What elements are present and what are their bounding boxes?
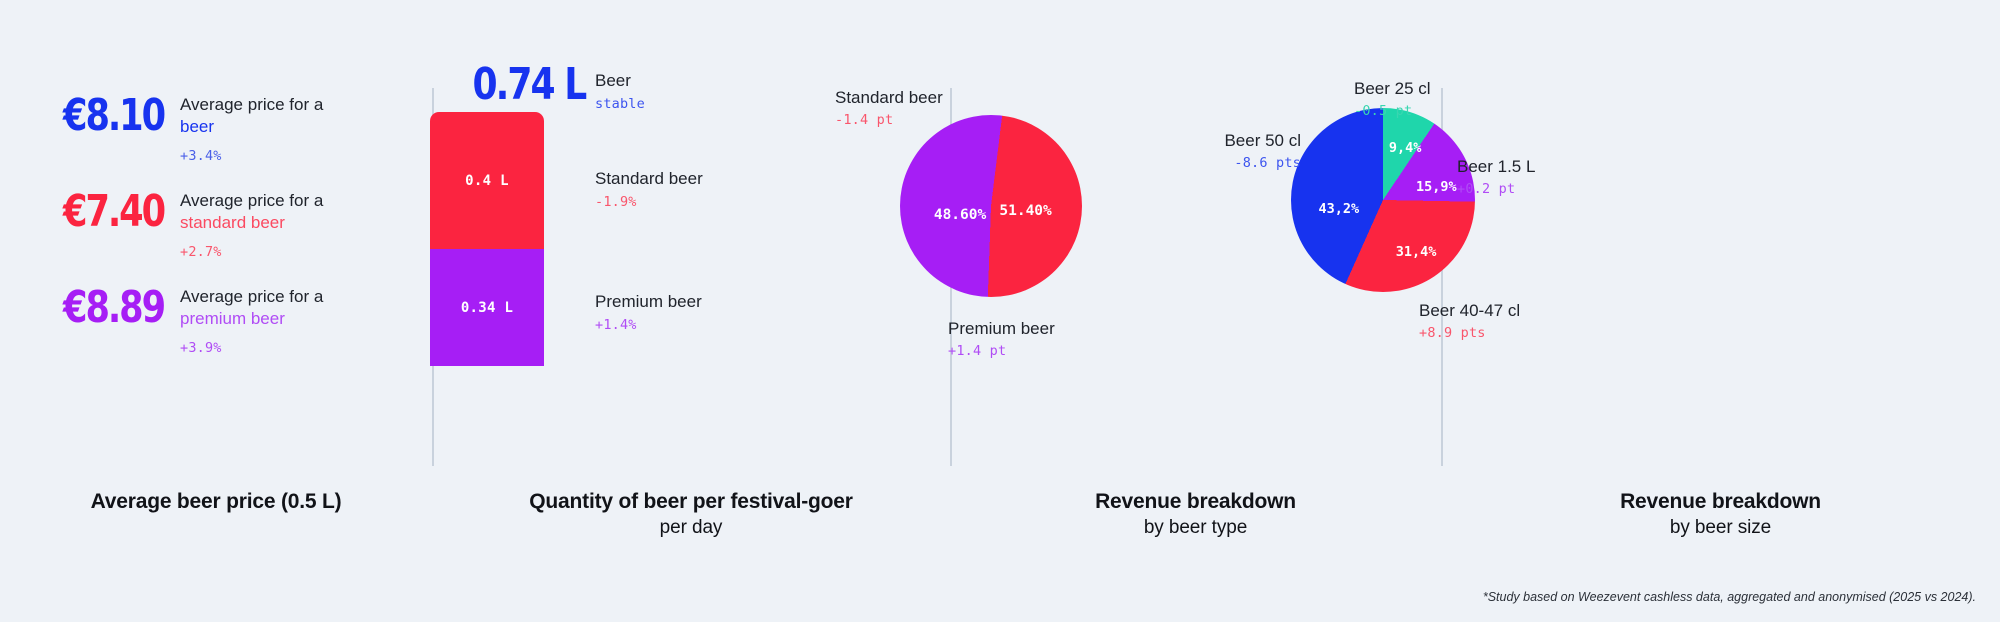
callout-delta-beer-15l: +0.2 pt xyxy=(1457,181,1535,197)
bar-label-standard-beer: 0.4 L xyxy=(465,173,509,189)
caption-main-quantity: Quantity of beer per festival-goer xyxy=(432,490,950,514)
callout-name-standard-beer: Standard beer xyxy=(835,87,943,109)
bar-segment-standard-beer: 0.4 L xyxy=(430,112,544,249)
legend-delta-beer-total: stable xyxy=(595,96,645,112)
price-desc-line1-beer: Average price for a xyxy=(180,94,323,116)
callout-delta-premium-beer: +1.4 pt xyxy=(948,343,1055,359)
callout-beer-40-47cl: Beer 40-47 cl +8.9 pts xyxy=(1419,300,1520,341)
callout-standard-beer: Standard beer -1.4 pt xyxy=(835,87,943,128)
price-delta-premium-beer: +3.9% xyxy=(180,340,323,356)
callout-delta-beer-50cl: -8.6 pts xyxy=(1151,155,1301,171)
caption-average-beer-price: Average beer price (0.5 L) xyxy=(0,490,432,514)
legend-name-beer-total: Beer xyxy=(595,70,645,92)
legend-standard-beer: Standard beer -1.9% xyxy=(595,168,703,210)
callout-name-beer-40-47cl: Beer 40-47 cl xyxy=(1419,300,1520,322)
price-delta-beer: +3.4% xyxy=(180,148,323,164)
bar-label-premium-beer: 0.34 L xyxy=(461,300,513,316)
panel-revenue-by-beer-size: 9,4% 15,9% 31,4% 43,2% Beer 25 cl -0.5 p… xyxy=(1441,0,2000,622)
legend-delta-standard-beer: -1.9% xyxy=(595,194,703,210)
price-desc-line2-beer: beer xyxy=(180,116,323,138)
study-footnote: *Study based on Weezevent cashless data,… xyxy=(1483,590,1976,604)
caption-sub-quantity: per day xyxy=(432,517,950,539)
callout-name-beer-15l: Beer 1.5 L xyxy=(1457,156,1535,178)
price-desc-premium-beer: Average price for a premium beer +3.9% xyxy=(180,286,323,356)
legend-name-standard-beer: Standard beer xyxy=(595,168,703,190)
pie-label-standard-beer: 48.60% xyxy=(934,207,986,223)
pie-label-beer-50cl: 43,2% xyxy=(1319,201,1360,217)
caption-revenue-type: Revenue breakdown by beer type xyxy=(950,490,1441,539)
price-desc-line1-premium-beer: Average price for a xyxy=(180,286,323,308)
caption-main-prices: Average beer price (0.5 L) xyxy=(0,490,432,514)
callout-name-premium-beer: Premium beer xyxy=(948,318,1055,340)
price-amount-standard-beer: €7.40 xyxy=(50,190,164,234)
pie-chart-revenue-by-type: 48.60% 51.40% xyxy=(900,115,1082,297)
legend-beer-total: Beer stable xyxy=(595,70,645,112)
price-desc-standard-beer: Average price for a standard beer +2.7% xyxy=(180,190,323,260)
callout-delta-standard-beer: -1.4 pt xyxy=(835,112,943,128)
caption-main-revenue-size: Revenue breakdown xyxy=(1441,490,2000,514)
price-desc-line2-standard-beer: standard beer xyxy=(180,212,323,234)
callout-premium-beer: Premium beer +1.4 pt xyxy=(948,318,1055,359)
pie-label-beer-15l: 15,9% xyxy=(1416,179,1457,195)
total-quantity-value: 0.74 L xyxy=(472,63,584,107)
pie-label-premium-beer: 51.40% xyxy=(999,203,1051,219)
legend-premium-beer: Premium beer +1.4% xyxy=(595,291,702,333)
pie-label-beer-40-47cl: 31,4% xyxy=(1396,244,1437,260)
price-row-standard-beer: €7.40 Average price for a standard beer … xyxy=(22,190,323,260)
beer-statistics-infographic: €8.10 Average price for a beer +3.4% €7.… xyxy=(0,0,2000,622)
panel-average-beer-price: €8.10 Average price for a beer +3.4% €7.… xyxy=(0,0,432,622)
callout-beer-25cl: Beer 25 cl -0.5 pt xyxy=(1354,78,1431,119)
legend-name-premium-beer: Premium beer xyxy=(595,291,702,313)
pie-chart-revenue-by-size: 9,4% 15,9% 31,4% 43,2% xyxy=(1291,108,1475,292)
price-desc-line1-standard-beer: Average price for a xyxy=(180,190,323,212)
price-amount-premium-beer: €8.89 xyxy=(50,286,164,330)
caption-main-revenue-type: Revenue breakdown xyxy=(950,490,1441,514)
caption-quantity: Quantity of beer per festival-goer per d… xyxy=(432,490,950,539)
callout-name-beer-25cl: Beer 25 cl xyxy=(1354,78,1431,100)
bar-segment-premium-beer: 0.34 L xyxy=(430,249,544,366)
caption-revenue-size: Revenue breakdown by beer size xyxy=(1441,490,2000,539)
price-delta-standard-beer: +2.7% xyxy=(180,244,323,260)
callout-beer-15l: Beer 1.5 L +0.2 pt xyxy=(1457,156,1535,197)
price-amount-beer: €8.10 xyxy=(50,94,164,138)
callout-name-beer-50cl: Beer 50 cl xyxy=(1151,130,1301,152)
caption-sub-revenue-size: by beer size xyxy=(1441,517,2000,539)
price-desc-line2-premium-beer: premium beer xyxy=(180,308,323,330)
callout-delta-beer-40-47cl: +8.9 pts xyxy=(1419,325,1520,341)
legend-delta-premium-beer: +1.4% xyxy=(595,317,702,333)
price-desc-beer: Average price for a beer +3.4% xyxy=(180,94,323,164)
callout-delta-beer-25cl: -0.5 pt xyxy=(1354,103,1431,119)
caption-sub-revenue-type: by beer type xyxy=(950,517,1441,539)
callout-beer-50cl: Beer 50 cl -8.6 pts xyxy=(1151,130,1301,171)
price-row-premium-beer: €8.89 Average price for a premium beer +… xyxy=(22,286,323,356)
stacked-bar-chart: 0.4 L 0.34 L xyxy=(430,112,544,366)
pie-label-beer-25cl: 9,4% xyxy=(1389,140,1422,156)
price-row-beer: €8.10 Average price for a beer +3.4% xyxy=(22,94,323,164)
